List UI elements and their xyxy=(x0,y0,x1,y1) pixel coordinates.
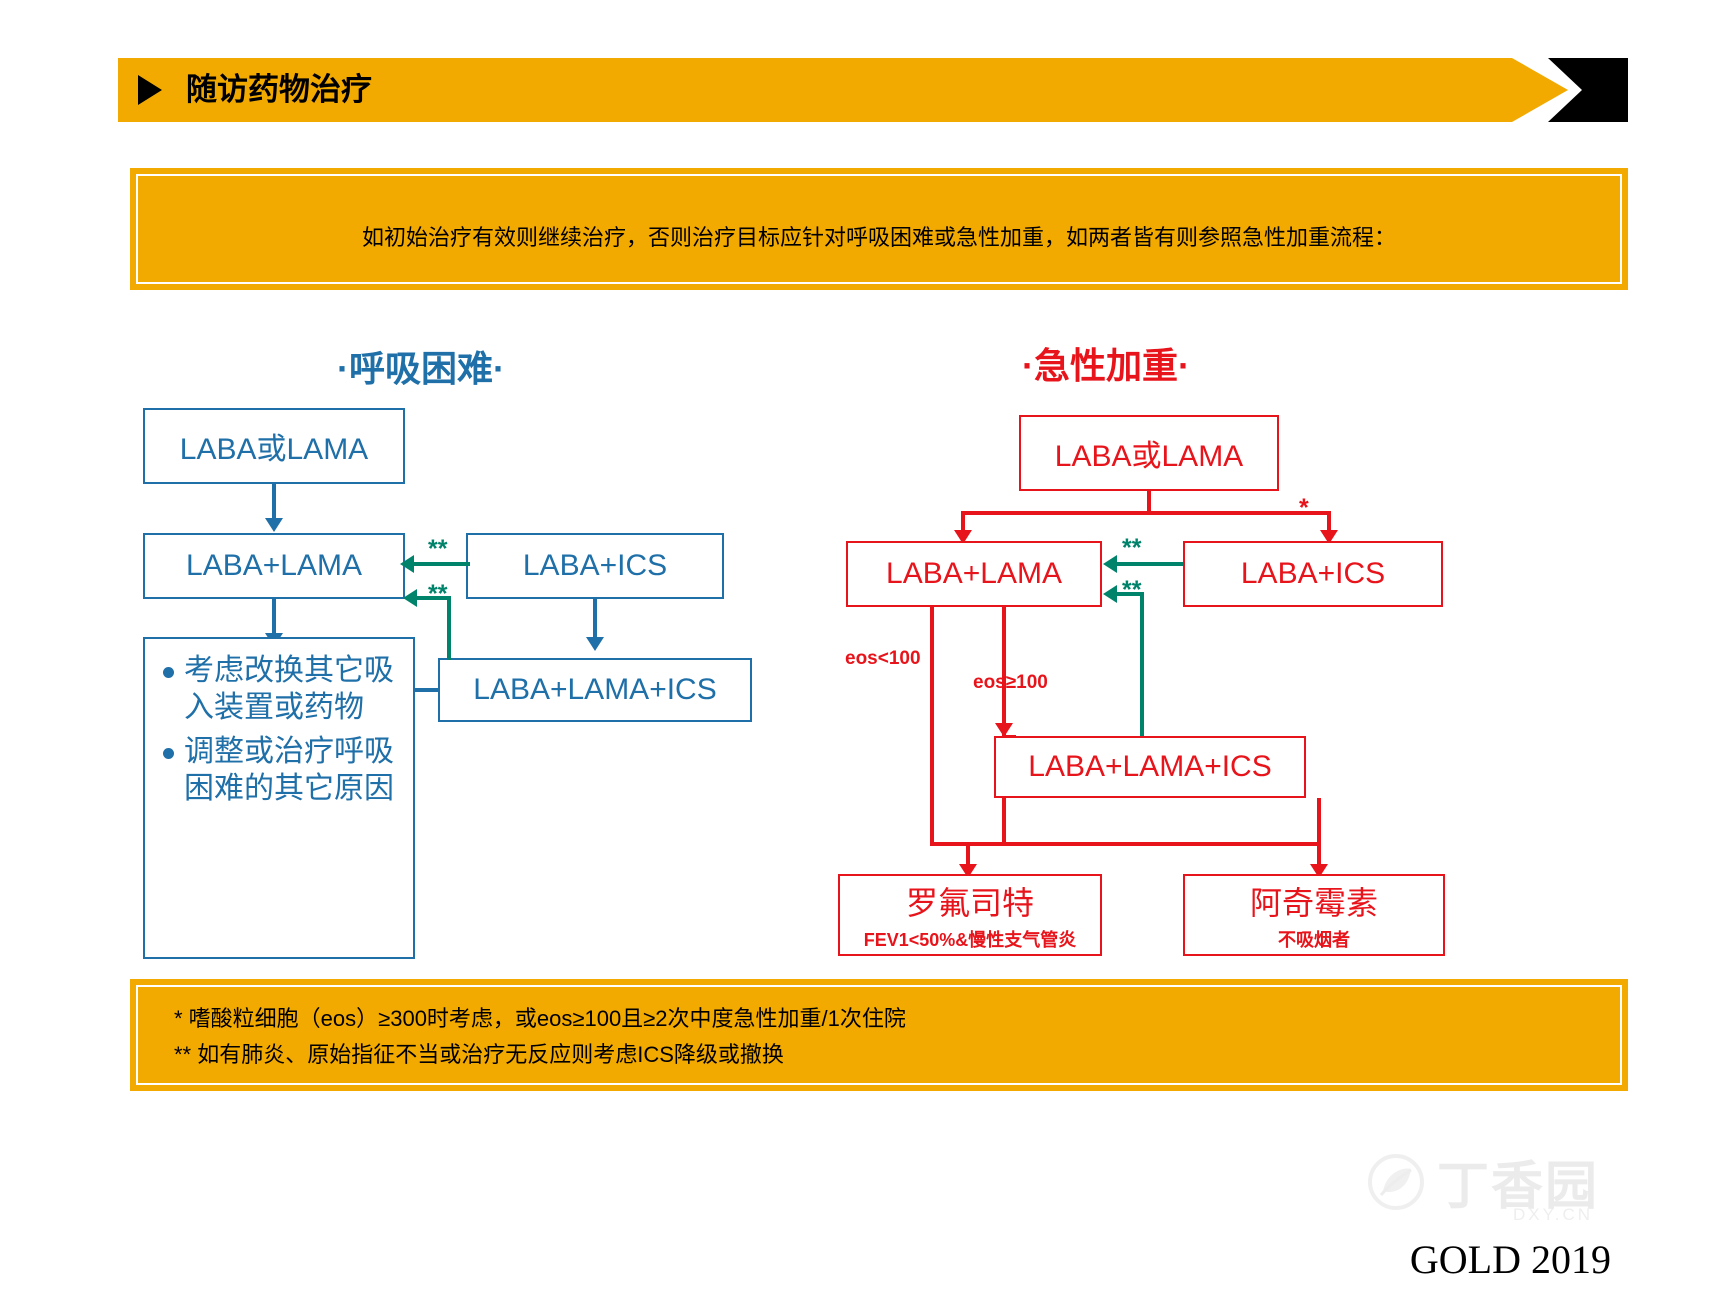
exac-label-star1: * xyxy=(1299,494,1309,523)
dyspnea-box-laba-or-lama: LABA或LAMA xyxy=(143,408,405,484)
exac-label-star2-b: ** xyxy=(1122,576,1141,605)
dyspnea-arrowhead-1 xyxy=(265,518,283,532)
source-label: GOLD 2019 xyxy=(1410,1236,1611,1283)
dyspnea-label-star2-b: ** xyxy=(428,580,447,609)
dyspnea-label-star2-a: ** xyxy=(428,535,447,564)
header-banner: 随访药物治疗 xyxy=(118,58,1630,122)
dyspnea-connector-3v xyxy=(447,596,451,660)
bullet-dot-icon xyxy=(163,667,174,678)
exac-azithromycin-title: 阿奇霉素 xyxy=(1250,878,1378,924)
exac-connector-triple-down-left xyxy=(1002,798,1006,844)
leaf-logo-icon xyxy=(1365,1153,1427,1211)
exac-connector-top-stem xyxy=(1147,491,1151,513)
exac-box-azithromycin: 阿奇霉素 不吸烟者 xyxy=(1183,874,1445,956)
top-note-box: 如初始治疗有效则继续治疗，否则治疗目标应针对呼吸困难或急性加重，如两者皆有则参照… xyxy=(128,166,1630,292)
dyspnea-bullet-2: 调整或治疗呼吸困难的其它原因 xyxy=(184,734,403,807)
dyspnea-arrowhead-4 xyxy=(403,589,417,607)
exac-roflumilast-sub: FEV1<50%&慢性支气管炎 xyxy=(864,926,1077,952)
watermark: 丁香园 DXY.CN xyxy=(1365,1144,1599,1219)
list-item: 调整或治疗呼吸困难的其它原因 xyxy=(163,734,403,807)
exacerbation-section-title: ·急性加重· xyxy=(1022,337,1190,389)
exac-label-eos-lt: eos<100 xyxy=(845,648,921,670)
dyspnea-box-laba-lama-ics: LABA+LAMA+ICS xyxy=(438,658,752,722)
exac-connector-triple-down-right xyxy=(1317,798,1321,844)
bottom-note-line-1: * 嗜酸粒细胞（eos）≥300时考虑，或eos≥100且≥2次中度急性加重/1… xyxy=(174,1001,906,1037)
exac-box-laba-lama: LABA+LAMA xyxy=(846,541,1102,607)
exac-arrowhead-4 xyxy=(1103,585,1117,603)
list-item: 考虑改换其它吸入装置或药物 xyxy=(163,653,403,726)
watermark-subtext: DXY.CN xyxy=(1513,1205,1593,1225)
play-triangle-icon xyxy=(138,75,162,105)
top-note-text: 如初始治疗有效则继续治疗，否则治疗目标应针对呼吸困难或急性加重，如两者皆有则参照… xyxy=(130,220,1628,252)
exac-arrowhead-3 xyxy=(1103,555,1117,573)
dyspnea-section-title: ·呼吸困难· xyxy=(337,340,505,392)
page-title: 随访药物治疗 xyxy=(186,58,372,122)
exac-label-star2-a: ** xyxy=(1122,534,1141,563)
exac-arrowhead-5 xyxy=(995,723,1013,737)
dyspnea-connector-1 xyxy=(272,484,276,520)
bottom-note-text: * 嗜酸粒细胞（eos）≥300时考虑，或eos≥100且≥2次中度急性加重/1… xyxy=(174,1001,906,1074)
slide-root: 随访药物治疗 如初始治疗有效则继续治疗，否则治疗目标应针对呼吸困难或急性加重，如… xyxy=(0,0,1729,1297)
exac-label-eos-ge: eos≥100 xyxy=(973,672,1048,694)
exac-box-laba-or-lama: LABA或LAMA xyxy=(1019,415,1279,491)
exac-connector-eos-lt xyxy=(930,607,934,844)
dyspnea-connector-5 xyxy=(272,599,276,635)
dyspnea-box-laba-lama: LABA+LAMA xyxy=(143,533,405,599)
exac-box-laba-lama-ics: LABA+LAMA+ICS xyxy=(994,736,1306,798)
dyspnea-box-laba-ics: LABA+ICS xyxy=(466,533,724,599)
exac-connector-bottom-bus xyxy=(930,842,1321,846)
exac-azithromycin-sub: 不吸烟者 xyxy=(1278,926,1350,952)
exac-roflumilast-title: 罗氟司特 xyxy=(906,878,1034,924)
dyspnea-actions-box: 考虑改换其它吸入装置或药物 调整或治疗呼吸困难的其它原因 xyxy=(143,637,415,959)
exac-box-roflumilast: 罗氟司特 FEV1<50%&慢性支气管炎 xyxy=(838,874,1102,956)
exac-connector-triple-up xyxy=(1140,592,1144,752)
bottom-note-line-2: ** 如有肺炎、原始指征不当或治疗无反应则考虑ICS降级或撤换 xyxy=(174,1037,906,1073)
exac-box-laba-ics: LABA+ICS xyxy=(1183,541,1443,607)
exac-connector-top-bus xyxy=(961,511,1331,515)
dyspnea-connector-2 xyxy=(593,599,597,639)
dyspnea-arrowhead-2 xyxy=(400,555,414,573)
dyspnea-arrowhead-3 xyxy=(586,637,604,651)
dyspnea-bullet-1: 考虑改换其它吸入装置或药物 xyxy=(184,653,403,726)
bottom-note-box: * 嗜酸粒细胞（eos）≥300时考虑，或eos≥100且≥2次中度急性加重/1… xyxy=(128,977,1630,1093)
bullet-dot-icon xyxy=(163,748,174,759)
